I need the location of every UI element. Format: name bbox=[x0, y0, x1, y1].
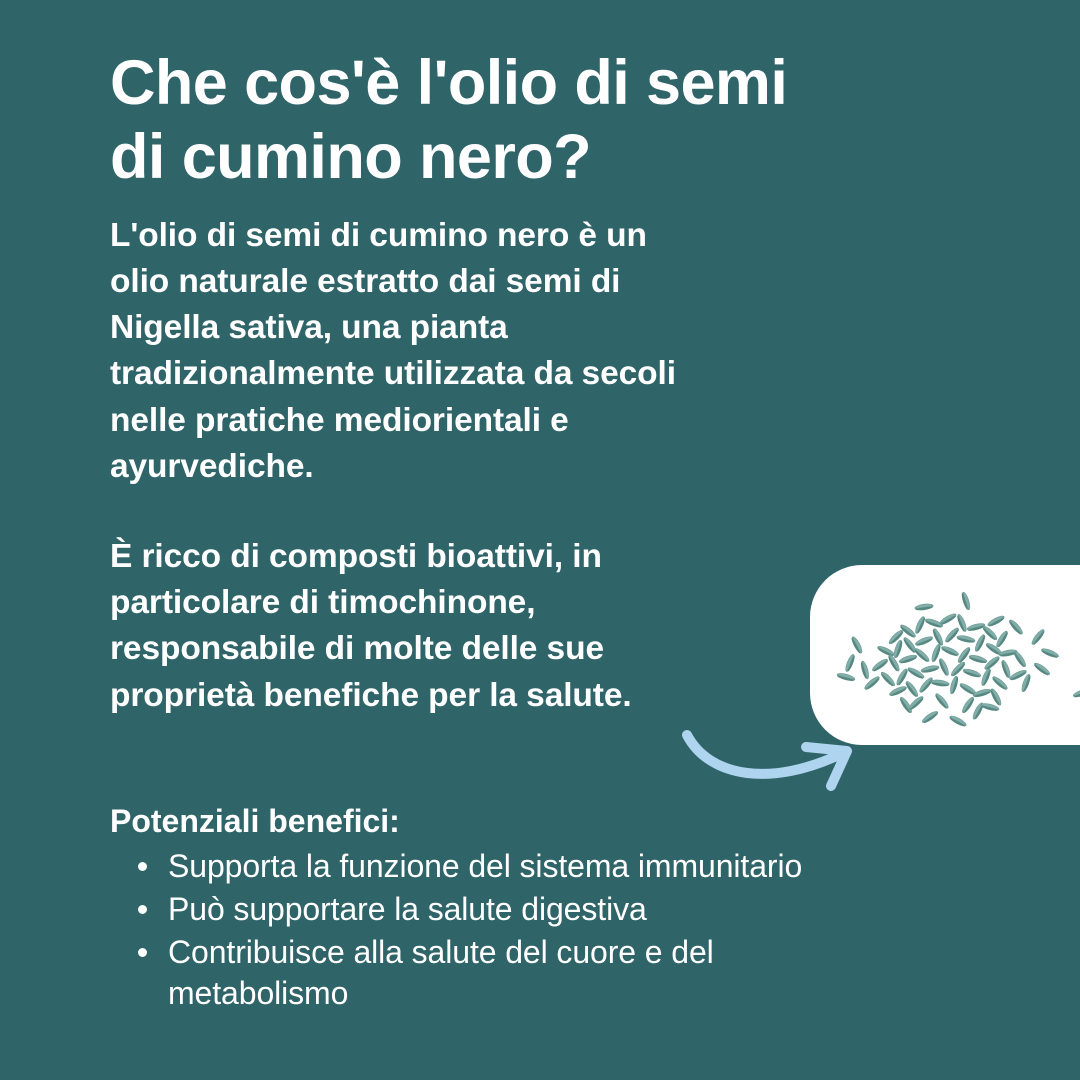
benefits-list: Supporta la funzione del sistema immunit… bbox=[110, 846, 870, 1014]
list-item-label: Contribuisce alla salute del cuore e del… bbox=[168, 934, 714, 1011]
list-item-label: Supporta la funzione del sistema immunit… bbox=[168, 848, 802, 884]
text-content: Che cos'è l'olio di semi di cumino nero?… bbox=[110, 46, 830, 719]
bullet-dot-icon bbox=[138, 948, 147, 957]
page-title: Che cos'è l'olio di semi di cumino nero? bbox=[110, 46, 830, 195]
black-cumin-seeds-image bbox=[810, 565, 1080, 745]
bioactive-paragraph: È ricco di composti bioattivi, in partic… bbox=[110, 534, 830, 719]
bullet-dot-icon bbox=[138, 862, 147, 871]
intro-paragraph: L'olio di semi di cumino nero è un olio … bbox=[110, 213, 830, 490]
list-item: Supporta la funzione del sistema immunit… bbox=[110, 846, 870, 887]
list-item-label: Può supportare la salute digestiva bbox=[168, 891, 647, 927]
paragraph-spacer bbox=[110, 490, 830, 534]
benefits-section: Potenziali benefici: Supporta la funzion… bbox=[110, 802, 870, 1016]
bullet-dot-icon bbox=[138, 905, 147, 914]
list-item: Può supportare la salute digestiva bbox=[110, 889, 870, 930]
seed-image-card bbox=[810, 565, 1080, 745]
poster-canvas: Che cos'è l'olio di semi di cumino nero?… bbox=[0, 0, 1080, 1080]
benefits-heading: Potenziali benefici: bbox=[110, 802, 870, 840]
list-item: Contribuisce alla salute del cuore e del… bbox=[110, 932, 870, 1014]
